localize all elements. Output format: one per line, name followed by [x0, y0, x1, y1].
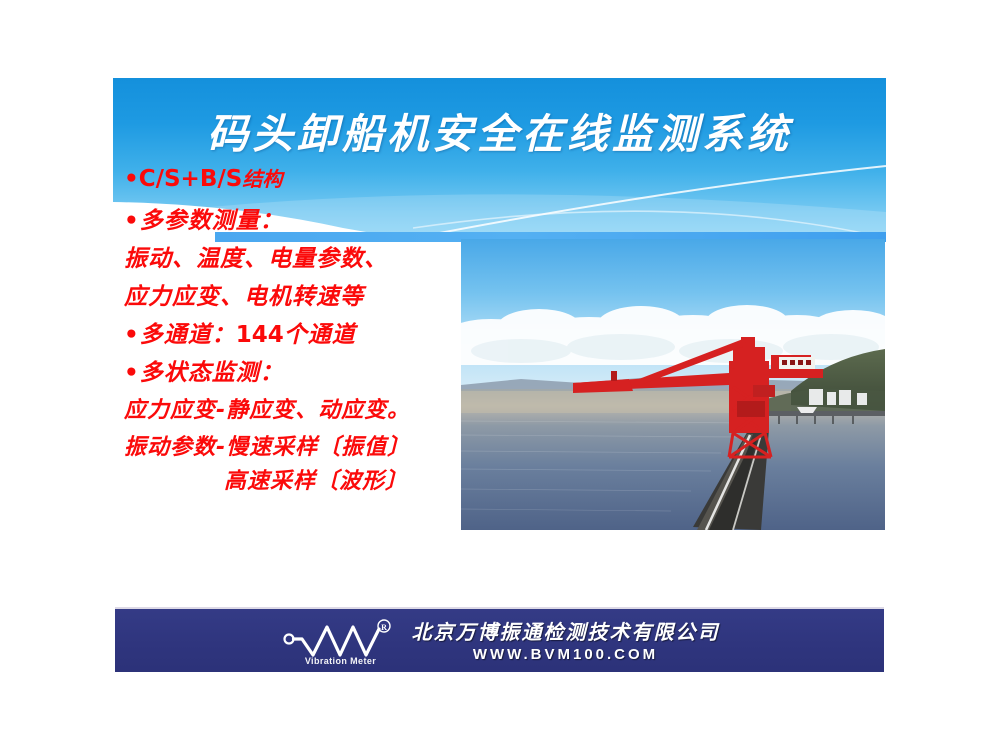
vibration-detail-line: 振动参数-慢速采样〔振值〕 [124, 437, 474, 459]
company-website: WWW.BVM100.COM [473, 646, 658, 663]
company-logo: R Vibration Meter [280, 617, 398, 665]
parameter-line-1: 振动、温度、电量参数、 [124, 248, 474, 271]
bullet-cs-bs-label: •C/S+B/S [124, 166, 242, 192]
bullet-list: •C/S+B/S结构 •多参数测量： 振动、温度、电量参数、 应力应变、电机转速… [124, 168, 474, 493]
bullet-multi-channel: •多通道：144个通道 [124, 324, 474, 347]
svg-text:R: R [381, 623, 387, 632]
channel-suffix: 个通道 [284, 322, 356, 348]
bullet-cs-bs: •C/S+B/S结构 [124, 168, 474, 191]
parameter-line-2: 应力应变、电机转速等 [124, 286, 474, 309]
bullet-multi-parameter: •多参数测量： [124, 210, 474, 233]
company-name: 北京万博振通检测技术有限公司 [412, 616, 720, 645]
footer-bar: R Vibration Meter 北京万博振通检测技术有限公司 WWW.BVM… [115, 607, 884, 672]
logo-caption: Vibration Meter [286, 656, 396, 666]
strain-detail-line: 应力应变-静应变、动应变。 [124, 400, 474, 422]
page-title: 码头卸船机安全在线监测系统 [113, 100, 886, 160]
photo-artwork [461, 239, 885, 530]
footer-text-block: 北京万博振通检测技术有限公司 WWW.BVM100.COM [412, 616, 720, 663]
channel-count: 144 [236, 322, 284, 348]
ship-unloader-photo [461, 239, 885, 530]
channel-prefix: •多通道： [124, 322, 236, 348]
presentation-slide: 码头卸船机安全在线监测系统 •C/S+B/S结构 •多参数测量： 振动、温度、电… [0, 0, 1000, 750]
bullet-multi-state: •多状态监测： [124, 362, 474, 385]
highspeed-detail-line: 高速采样〔波形〕 [224, 471, 474, 493]
bullet-cs-bs-suffix: 结构 [242, 167, 282, 191]
